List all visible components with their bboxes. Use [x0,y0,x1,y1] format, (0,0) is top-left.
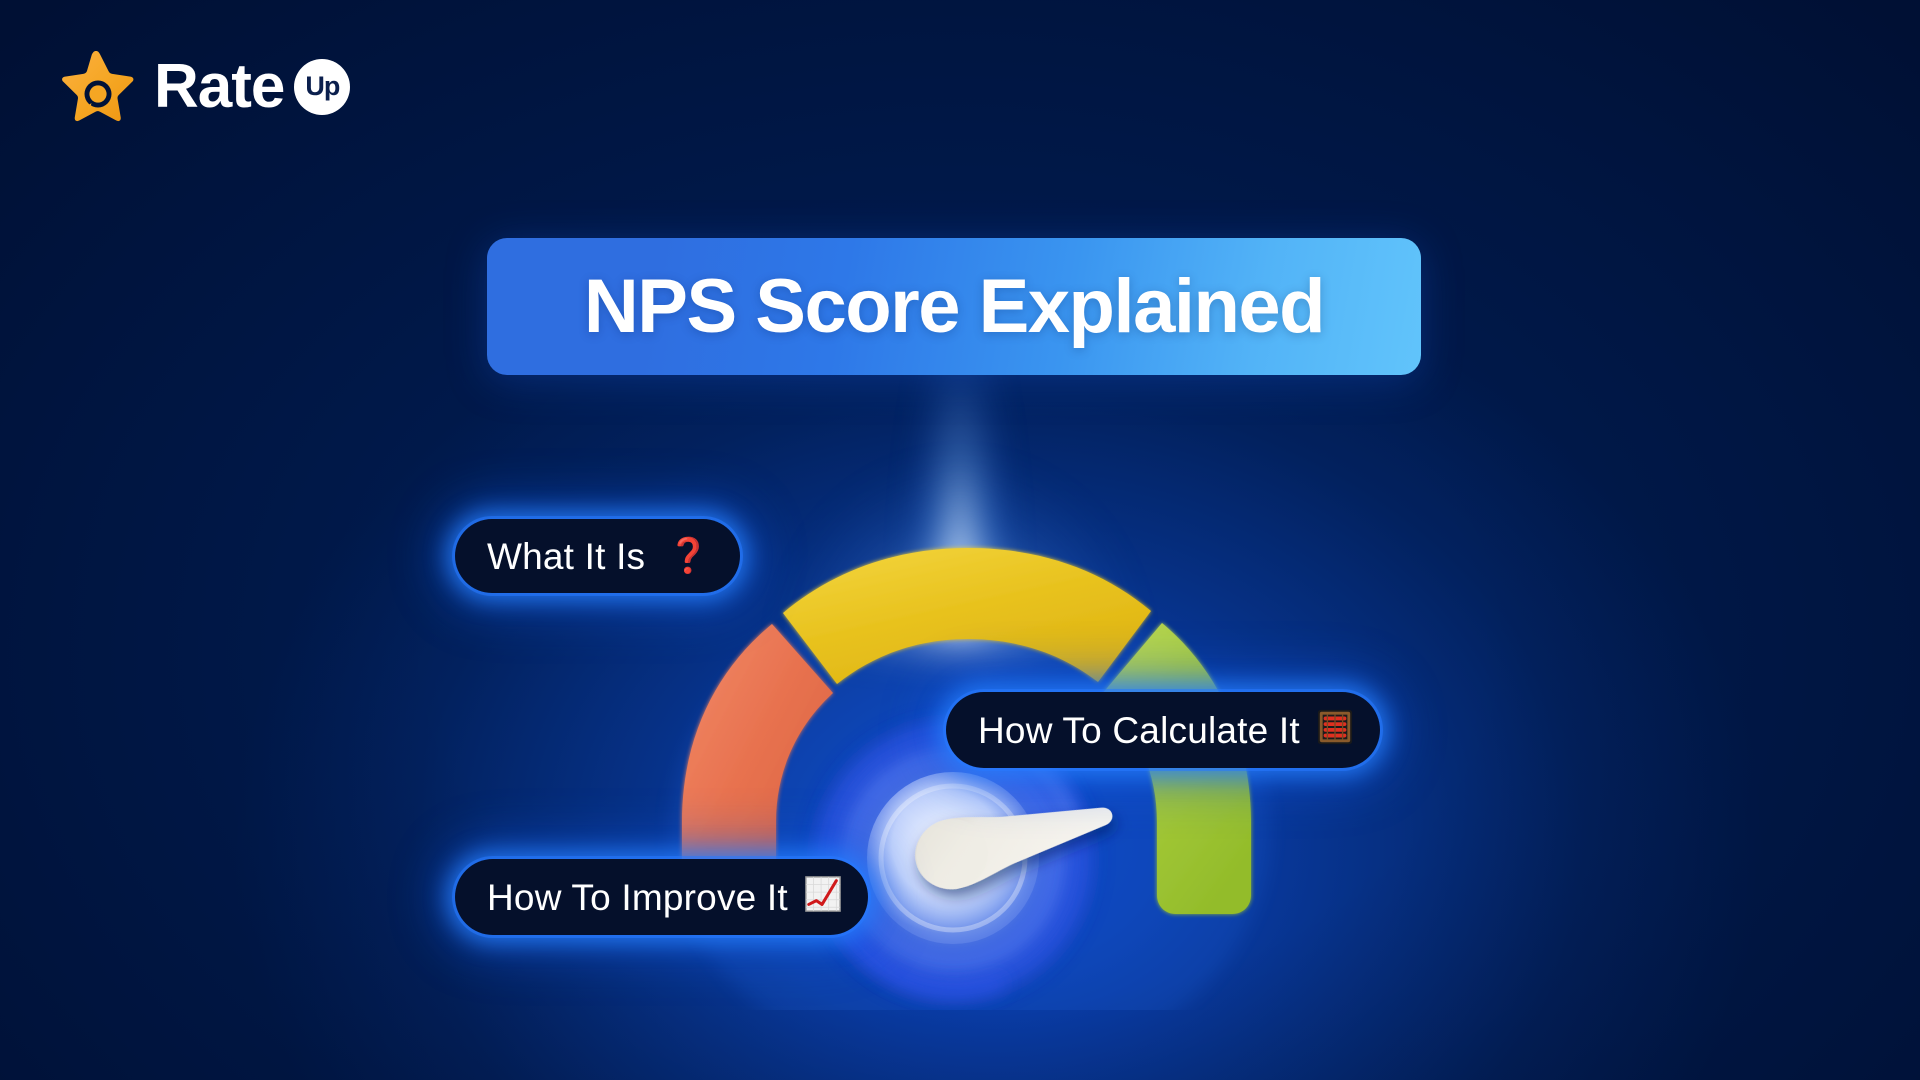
abacus-emoji [1316,708,1354,752]
chart-increasing-emoji [804,875,842,919]
pill-how-to-calculate-it[interactable]: How To Calculate It [946,692,1380,768]
pill-how-to-improve-it-label: How To Improve It [487,879,788,916]
star-with-dot-icon [58,48,136,126]
pill-what-it-is[interactable]: What It Is ❓ [455,519,740,593]
pill-what-it-is-label: What It Is [487,538,645,575]
pill-how-to-improve-it[interactable]: How To Improve It [455,859,868,935]
red-question-mark-emoji: ❓ [667,539,709,573]
page-title: NPS Score Explained [584,263,1324,350]
page-title-banner: NPS Score Explained [487,238,1421,375]
logo-up-badge: Up [294,59,350,115]
brand-logo[interactable]: Rate Up [58,48,350,126]
pill-how-to-calculate-it-label: How To Calculate It [978,712,1300,749]
logo-brand-text: Rate [154,56,284,118]
logo-wordmark: Rate Up [154,56,350,118]
